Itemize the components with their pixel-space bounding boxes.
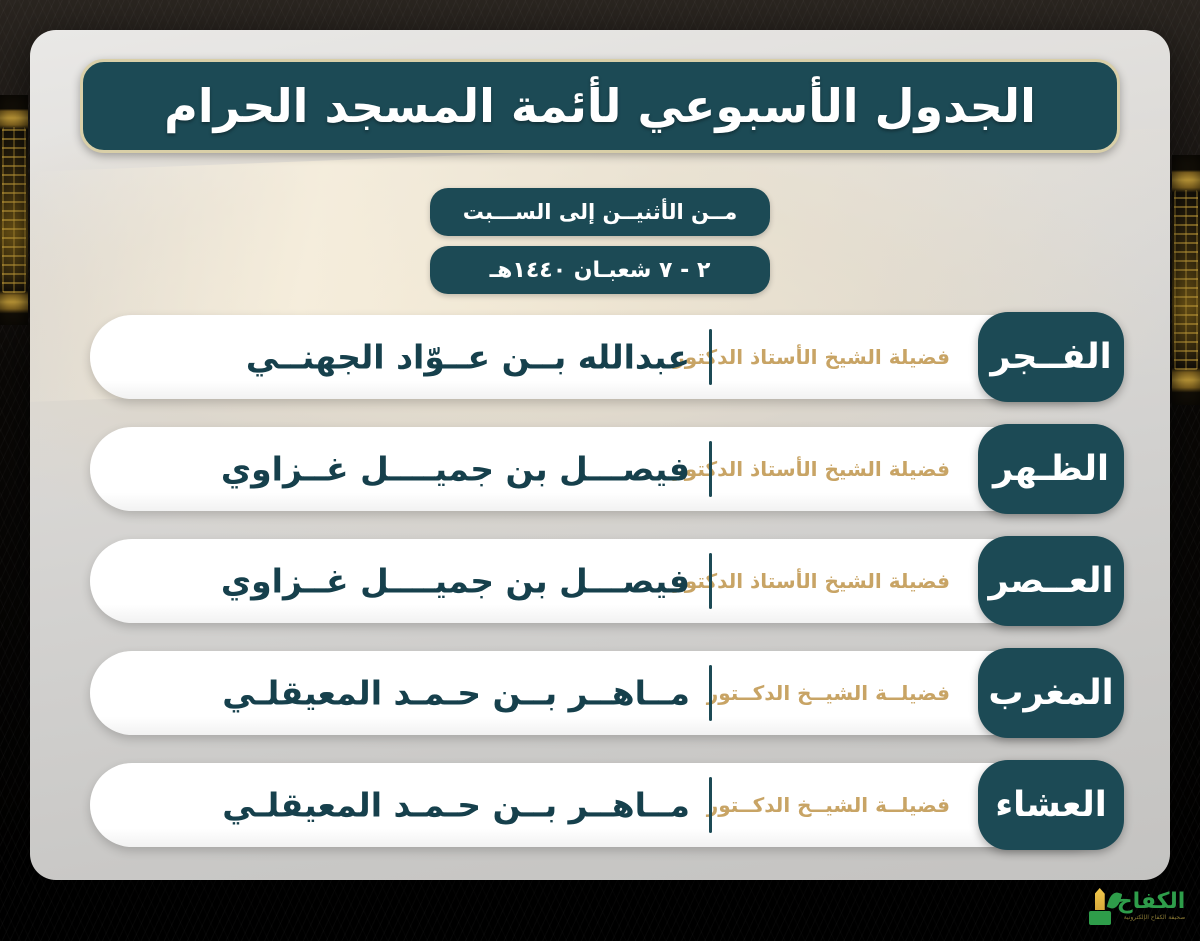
row-divider (709, 777, 712, 833)
imam-name: فيصـــل بن جميــــل غــزاوي (221, 450, 690, 489)
prayer-name-label: العشاء (995, 785, 1107, 825)
row-divider (709, 553, 712, 609)
imam-name: مــاهــر بــن حـمـد المعيقلـي (222, 674, 690, 713)
schedule-rows: الفــجر فضيلة الشيخ الأستاذ الدكتور عبدا… (90, 315, 1110, 847)
publisher-logo[interactable]: الكفاح صحيفة الكفاح الإلكترونية (1080, 877, 1192, 935)
pen-base-shape (1089, 911, 1111, 925)
prayer-name-label: العــصر (988, 561, 1113, 601)
prayer-name-label: الفــجر (990, 337, 1111, 377)
row-divider (709, 665, 712, 721)
imam-name: مــاهــر بــن حـمـد المعيقلـي (222, 786, 690, 825)
logo-name: الكفاح (1117, 891, 1186, 913)
logo-text-group: الكفاح صحيفة الكفاح الإلكترونية (1117, 891, 1186, 921)
row-divider (709, 441, 712, 497)
pen-nib-shape (1095, 888, 1105, 910)
page-title: الجدول الأسبوعي لأئمة المسجد الحرام (164, 83, 1036, 129)
row-divider (709, 329, 712, 385)
table-row: الفــجر فضيلة الشيخ الأستاذ الدكتور عبدا… (90, 315, 1110, 399)
imam-honorific: فضيلة الشيخ الأستاذ الدكتور (673, 457, 950, 481)
prayer-name-badge: العــصر (978, 536, 1124, 626)
imam-honorific: فضيلــة الشيــخ الدكــتور (707, 793, 950, 817)
schedule-card: الجدول الأسبوعي لأئمة المسجد الحرام مــن… (30, 30, 1170, 880)
poster-title-bar: الجدول الأسبوعي لأئمة المسجد الحرام (80, 59, 1120, 153)
prayer-name-label: الظـهر (993, 449, 1109, 489)
imam-honorific: فضيلة الشيخ الأستاذ الدكتور (673, 345, 950, 369)
prayer-name-badge: المغرب (978, 648, 1124, 738)
subtitle-days-label: مــن الأثنيــن إلى الســـبت (463, 200, 738, 224)
kiswah-gold-embroidery-right (1172, 155, 1200, 405)
table-row: العــصر فضيلة الشيخ الأستاذ الدكتور فيصـ… (90, 539, 1110, 623)
imam-name: عبدالله بــن عــوّاد الجهنــي (246, 338, 690, 377)
subtitle-days-badge: مــن الأثنيــن إلى الســـبت (430, 188, 770, 236)
logo-tagline: صحيفة الكفاح الإلكترونية (1124, 915, 1186, 921)
prayer-name-label: المغرب (988, 673, 1113, 713)
imam-honorific: فضيلة الشيخ الأستاذ الدكتور (673, 569, 950, 593)
kiswah-gold-embroidery-left (0, 95, 28, 325)
subtitle-date-label: ٢ - ٧ شعبـان ١٤٤٠هـ (490, 258, 711, 283)
prayer-name-badge: الظـهر (978, 424, 1124, 514)
subtitle-date-badge: ٢ - ٧ شعبـان ١٤٤٠هـ (430, 246, 770, 294)
prayer-name-badge: العشاء (978, 760, 1124, 850)
table-row: الظـهر فضيلة الشيخ الأستاذ الدكتور فيصــ… (90, 427, 1110, 511)
table-row: العشاء فضيلــة الشيــخ الدكــتور مــاهــ… (90, 763, 1110, 847)
imam-honorific: فضيلــة الشيــخ الدكــتور (707, 681, 950, 705)
table-row: المغرب فضيلــة الشيــخ الدكــتور مــاهــ… (90, 651, 1110, 735)
prayer-name-badge: الفــجر (978, 312, 1124, 402)
imam-name: فيصـــل بن جميــــل غــزاوي (221, 562, 690, 601)
pen-leaf-icon (1087, 887, 1113, 925)
